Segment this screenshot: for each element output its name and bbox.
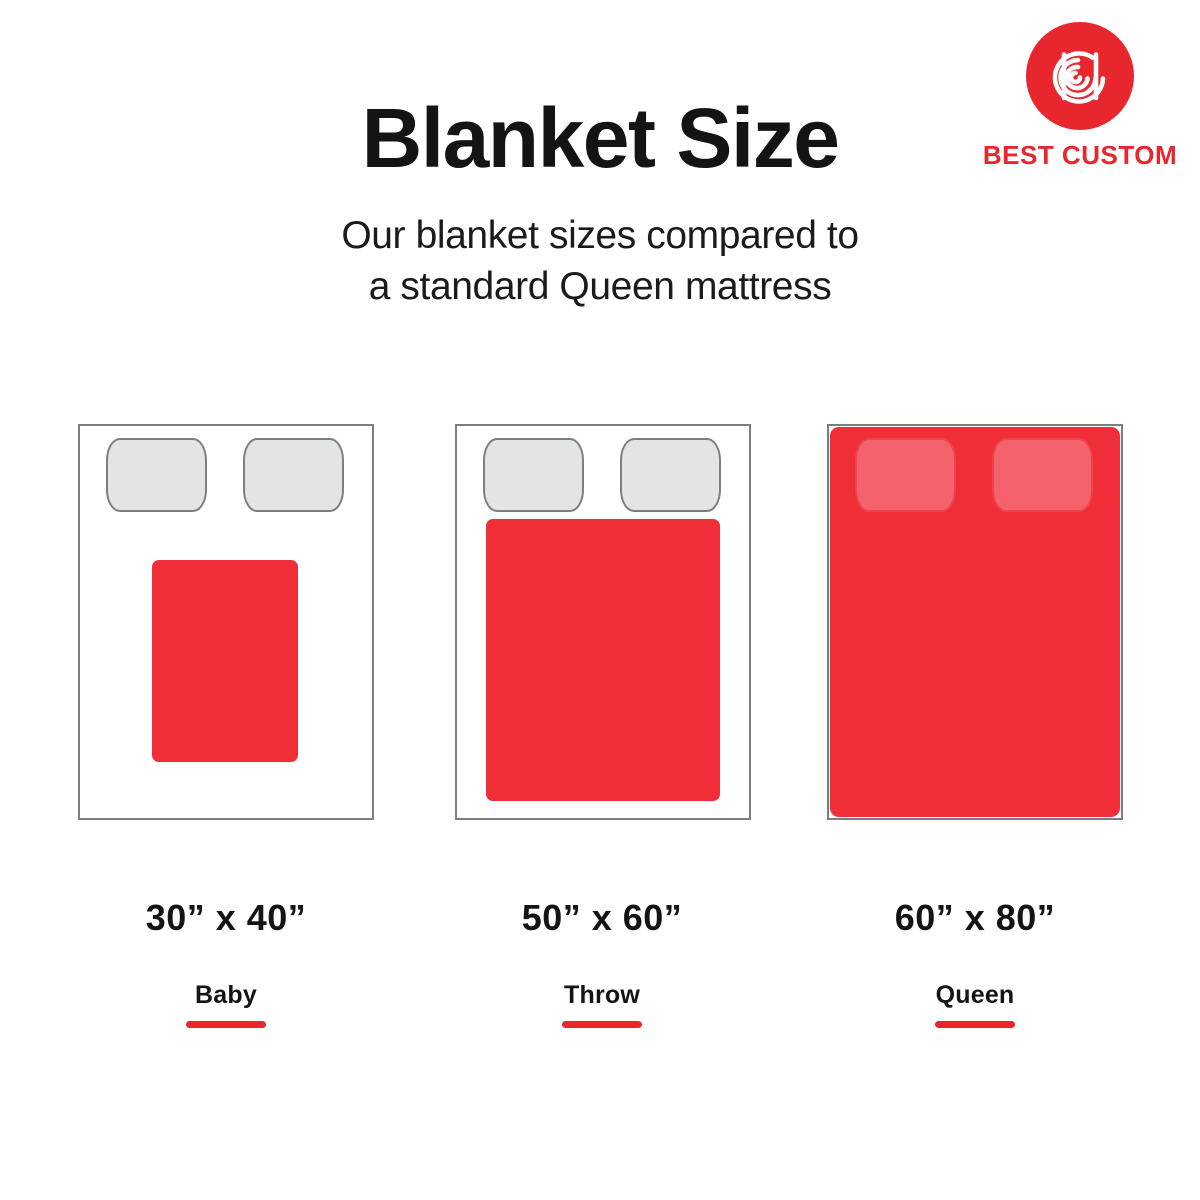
page-title: Blanket Size <box>0 96 1200 180</box>
pillow-left <box>855 438 956 512</box>
accent-underline <box>935 1021 1015 1028</box>
captions-row: 30” x 40” Baby 50” x 60” Throw 60” x 80”… <box>0 900 1200 1040</box>
bed-diagram-baby <box>78 424 374 820</box>
pillow-right <box>620 438 721 512</box>
caption-queen: 60” x 80” Queen <box>805 900 1145 1028</box>
size-name-label: Baby <box>56 983 396 1008</box>
size-name-label: Throw <box>432 983 772 1008</box>
size-name-label: Queen <box>805 983 1145 1008</box>
bed-diagram-throw <box>455 424 751 820</box>
dimension-label: 60” x 80” <box>805 900 1145 936</box>
accent-underline <box>186 1021 266 1028</box>
pillow-right <box>243 438 344 512</box>
bed-diagrams-row <box>0 424 1200 824</box>
accent-underline <box>562 1021 642 1028</box>
headline-block: Blanket Size Our blanket sizes compared … <box>0 96 1200 313</box>
caption-baby: 30” x 40” Baby <box>56 900 396 1028</box>
dimension-label: 30” x 40” <box>56 900 396 936</box>
pillow-left <box>483 438 584 512</box>
page-subtitle-line-1: Our blanket sizes compared to <box>0 210 1200 261</box>
blanket-baby <box>152 560 298 762</box>
dimension-label: 50” x 60” <box>432 900 772 936</box>
blanket-size-infographic: BEST CUSTOM Blanket Size Our blanket siz… <box>0 0 1200 1200</box>
pillow-right <box>992 438 1093 512</box>
bed-diagram-queen <box>827 424 1123 820</box>
page-subtitle: Our blanket sizes compared to a standard… <box>0 210 1200 313</box>
blanket-throw <box>486 519 720 801</box>
page-subtitle-line-2: a standard Queen mattress <box>0 261 1200 312</box>
pillow-left <box>106 438 207 512</box>
caption-throw: 50” x 60” Throw <box>432 900 772 1028</box>
